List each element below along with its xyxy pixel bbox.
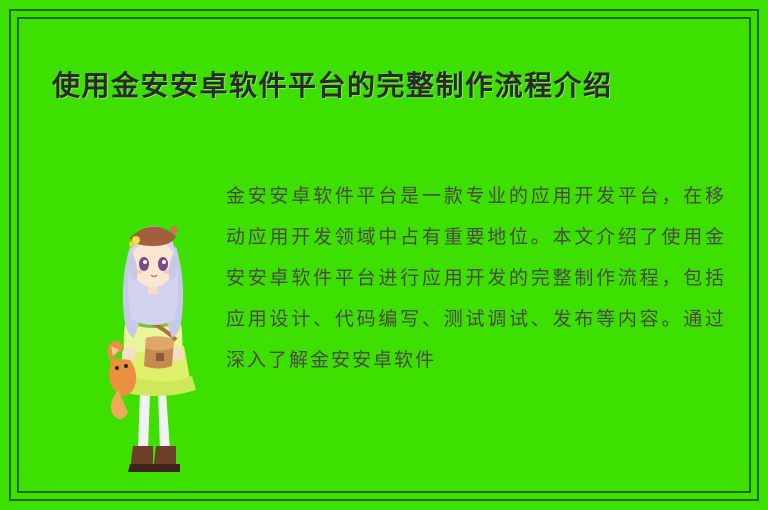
anime-girl-with-fox-illustration [88,178,218,498]
page-content: 使用金安安卓软件平台的完整制作流程介绍 [30,30,738,480]
body-paragraph: 金安安卓软件平台是一款专业的应用开发平台，在移动应用开发领域中占有重要地位。本文… [226,176,726,381]
document-page: 使用金安安卓软件平台的完整制作流程介绍 [0,0,768,510]
page-title: 使用金安安卓软件平台的完整制作流程介绍 [52,65,724,107]
